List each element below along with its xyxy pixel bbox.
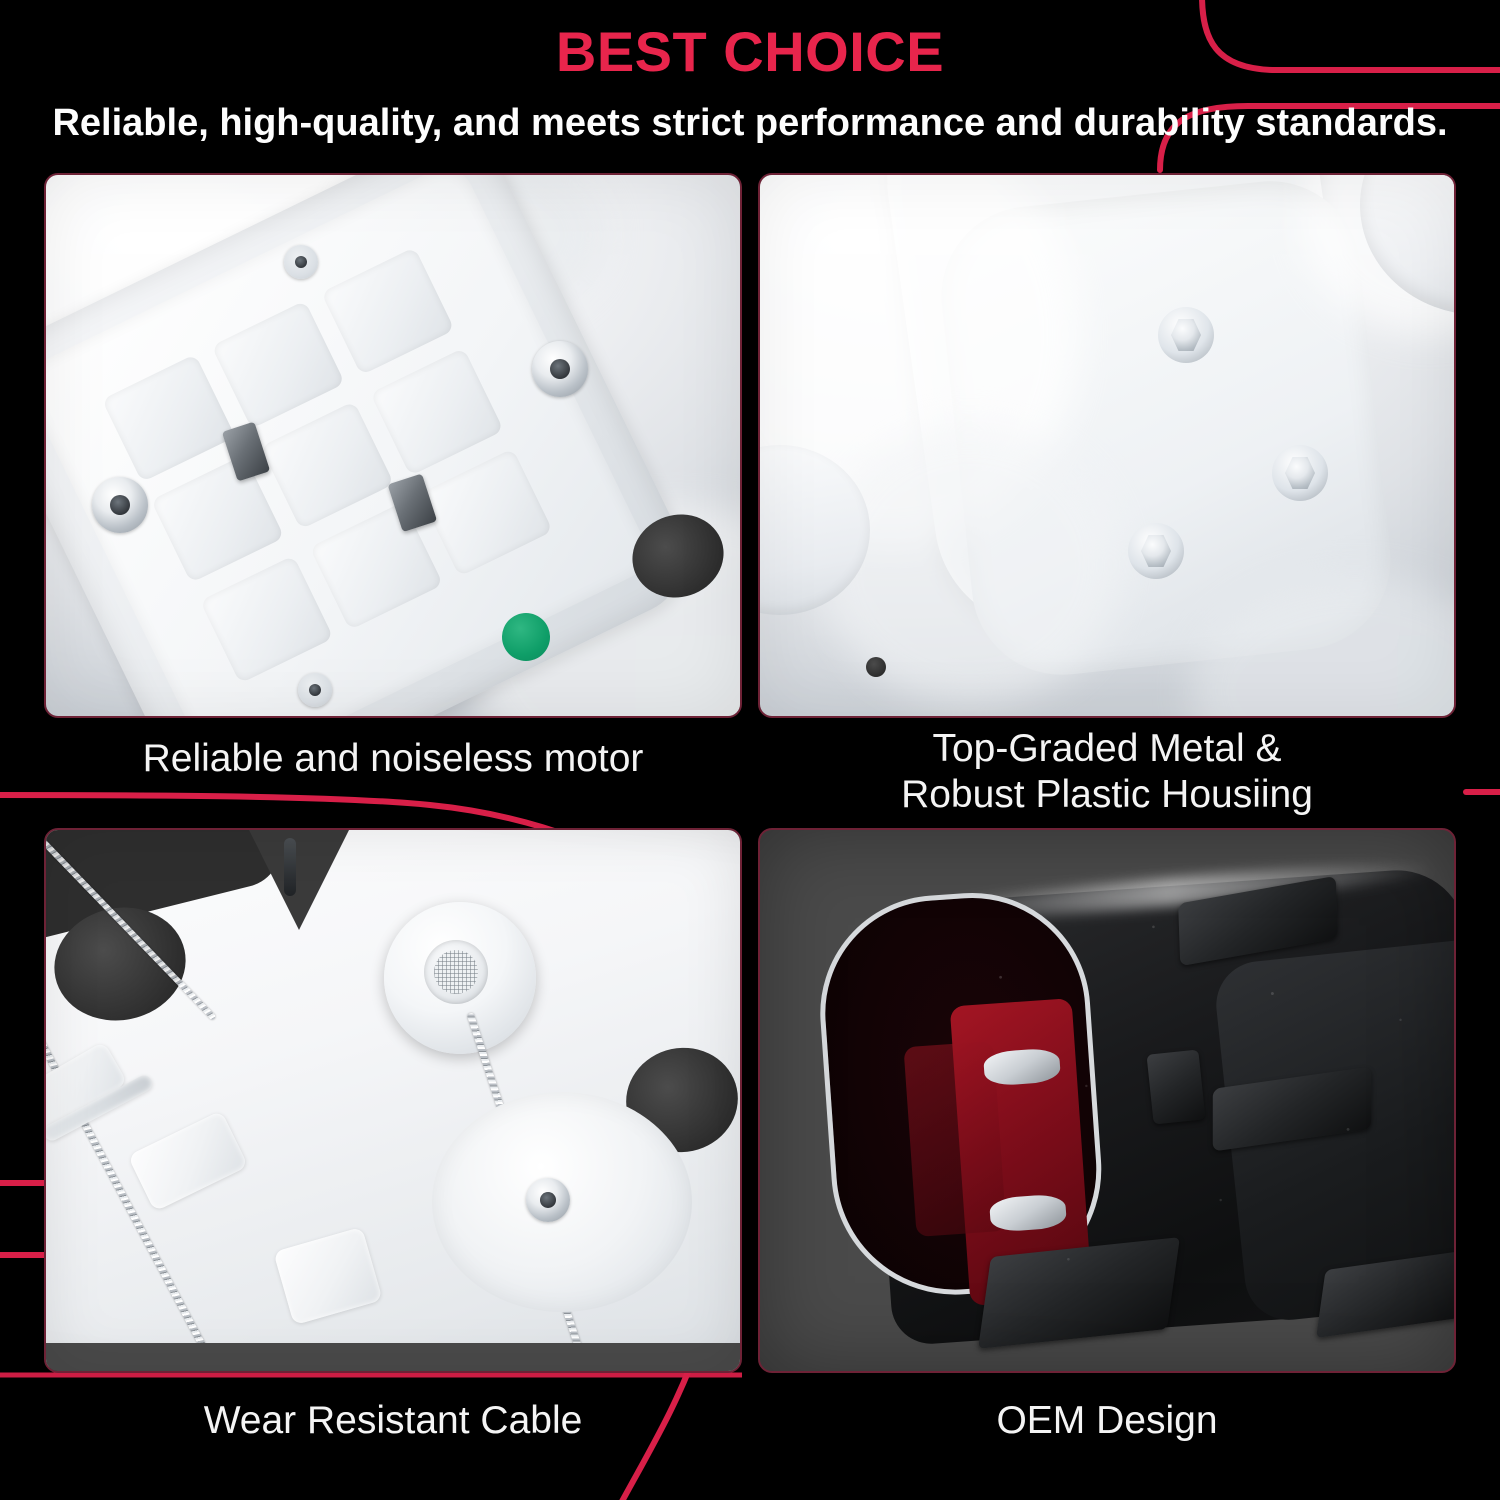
motor-housing-image	[46, 175, 740, 716]
regulator-cable-image	[46, 830, 740, 1371]
feature-panel-motor[interactable]	[44, 173, 742, 718]
caption-metal-housing: Top-Graded Metal & Robust Plastic Housii…	[758, 726, 1456, 818]
infographic-root: BEST CHOICE Reliable, high-quality, and …	[0, 0, 1500, 1500]
feature-panel-metal-housing[interactable]	[758, 173, 1456, 718]
feature-panel-oem-connector[interactable]	[758, 828, 1456, 1373]
caption-cable: Wear Resistant Cable	[44, 1398, 742, 1444]
stamped-metal-panel-image	[760, 175, 1454, 716]
caption-oem-design: OEM Design	[758, 1398, 1456, 1444]
page-subtitle: Reliable, high-quality, and meets strict…	[0, 104, 1500, 142]
page-title: BEST CHOICE	[0, 24, 1500, 80]
feature-panel-cable[interactable]	[44, 828, 742, 1373]
caption-motor: Reliable and noiseless motor	[44, 736, 742, 782]
oem-connector-image	[760, 830, 1454, 1371]
